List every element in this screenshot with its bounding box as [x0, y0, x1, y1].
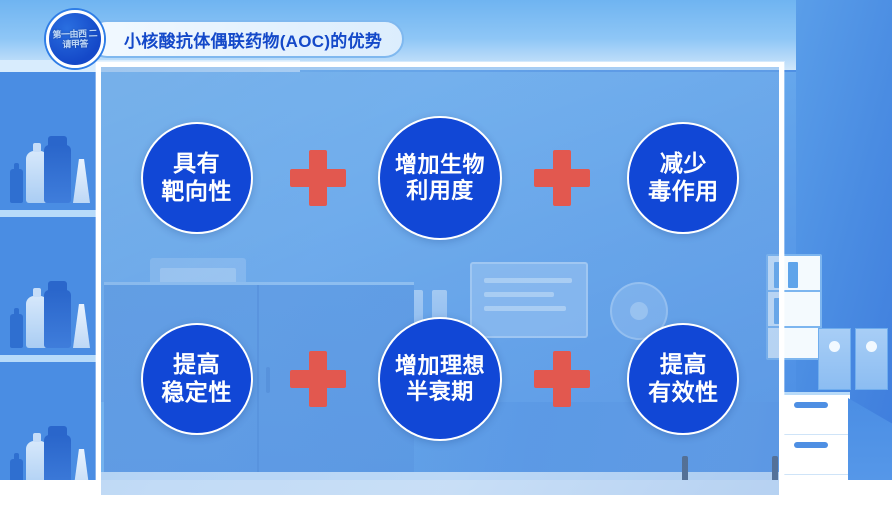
advantage-line-1: 减少 — [660, 150, 707, 177]
flask-icon — [73, 159, 90, 203]
bottle-icon — [10, 314, 23, 348]
plus-icon — [532, 349, 592, 409]
advantage-bubble-6[interactable]: 提高 有效性 — [627, 323, 739, 435]
advantages-grid: 具有 靶向性 增加生物 利用度 减少 毒作用 提高 稳定性 增加理想 半衰期 — [101, 67, 779, 495]
bottle-icon — [10, 169, 23, 203]
advantage-line-2: 稳定性 — [161, 379, 232, 406]
logo-mark-text: 第一由西 二请甲答 — [49, 28, 102, 50]
advantage-line-2: 有效性 — [648, 379, 719, 406]
brand-circle-logo-icon: 第一由西 二请甲答 — [46, 10, 104, 68]
advantage-line-1: 增加生物 — [395, 152, 485, 178]
flask-icon — [73, 304, 90, 348]
drawer — [784, 435, 850, 475]
plus-icon — [288, 349, 348, 409]
advantage-bubble-3[interactable]: 减少 毒作用 — [627, 122, 739, 234]
binder-icon — [818, 328, 851, 390]
advantage-line-1: 具有 — [173, 150, 220, 177]
advantage-line-2: 半衰期 — [406, 379, 474, 405]
advantage-line-2: 毒作用 — [648, 178, 719, 205]
advantage-bubble-1[interactable]: 具有 靶向性 — [141, 122, 253, 234]
jar-icon — [44, 145, 71, 203]
advantage-line-1: 提高 — [660, 351, 707, 378]
advantage-bubble-2[interactable]: 增加生物 利用度 — [378, 116, 502, 240]
advantage-bubble-5[interactable]: 增加理想 半衰期 — [378, 317, 502, 441]
book-icon — [788, 262, 798, 288]
advantage-line-1: 提高 — [173, 351, 220, 378]
advantage-line-1: 增加理想 — [395, 353, 485, 379]
drawer — [784, 395, 850, 435]
slide-canvas: 具有 靶向性 增加生物 利用度 减少 毒作用 提高 稳定性 增加理想 半衰期 — [0, 0, 892, 514]
shelf-row — [0, 217, 96, 362]
reagent-bottle-shelving — [0, 72, 96, 514]
header: 第一由西 二请甲答 小核酸抗体偶联药物(AOC)的优势 — [46, 10, 420, 68]
plus-icon — [288, 148, 348, 208]
shelf-row — [0, 72, 96, 217]
title-pill: 小核酸抗体偶联药物(AOC)的优势 — [88, 20, 404, 58]
advantage-bubble-4[interactable]: 提高 稳定性 — [141, 323, 253, 435]
page-title: 小核酸抗体偶联药物(AOC)的优势 — [124, 27, 382, 52]
binder-icon — [855, 328, 888, 390]
content-panel: 具有 靶向性 增加生物 利用度 减少 毒作用 提高 稳定性 增加理想 半衰期 — [96, 62, 784, 500]
plus-icon — [532, 148, 592, 208]
jar-icon — [44, 290, 71, 348]
advantage-line-2: 靶向性 — [161, 178, 232, 205]
advantage-line-2: 利用度 — [406, 178, 474, 204]
